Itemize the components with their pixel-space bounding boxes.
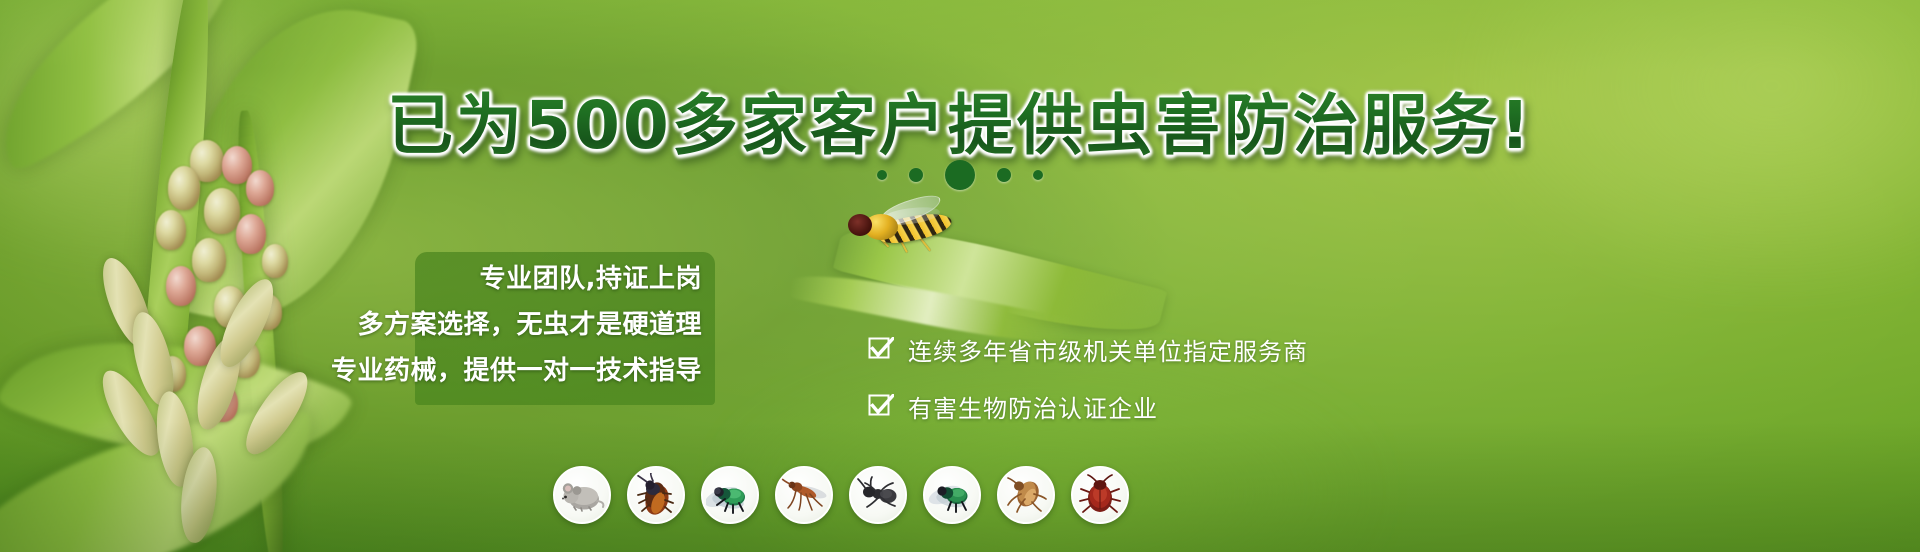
ant-icon[interactable] [849,466,907,524]
mosquito-icon[interactable] [775,466,833,524]
flea-icon[interactable] [997,466,1055,524]
headline-text: 已为500多家客户提供虫害防治服务! [387,72,1533,168]
pest-control-hero-banner: 已为500多家客户提供虫害防治服务! 专业团队,持证上岗 多方案选择，无虫才是硬… [0,0,1920,552]
selling-point-line-2: 多方案选择，无虫才是硬道理 [357,304,702,341]
dot-medium-right [997,168,1011,182]
checkbox-checked-icon [868,394,894,420]
green-bottle-fly-icon[interactable] [701,466,759,524]
dot-small-right [1033,170,1043,180]
selling-point-line-1: 专业团队,持证上岗 [480,258,702,295]
plant-seed-pods [110,215,330,515]
housefly-icon[interactable] [923,466,981,524]
bedbug-icon[interactable] [1071,466,1129,524]
checklist-item: 有害生物防治认证企业 [868,389,1308,424]
selling-point-line-3: 专业药械，提供一对一技术指导 [331,350,702,387]
pest-type-icon-row [553,466,1129,524]
cockroach-icon[interactable] [627,466,685,524]
credentials-checklist: 连续多年省市级机关单位指定服务商 有害生物防治认证企业 [868,332,1308,424]
dot-medium-left [909,168,923,182]
dot-small-left [877,170,887,180]
checklist-item-label: 有害生物防治认证企业 [908,389,1158,424]
selling-points-text-group: 专业团队,持证上岗 多方案选择，无虫才是硬道理 专业药械，提供一对一技术指导 [340,258,720,387]
checklist-item: 连续多年省市级机关单位指定服务商 [868,332,1308,367]
dot-large-center [945,160,975,190]
checkbox-checked-icon [868,337,894,363]
headline: 已为500多家客户提供虫害防治服务! [0,72,1920,168]
hoverfly-head [848,214,872,236]
hoverfly-photo [840,198,960,260]
mouse-icon[interactable] [553,466,611,524]
decorative-dot-row [0,160,1920,190]
checklist-item-label: 连续多年省市级机关单位指定服务商 [908,332,1308,367]
